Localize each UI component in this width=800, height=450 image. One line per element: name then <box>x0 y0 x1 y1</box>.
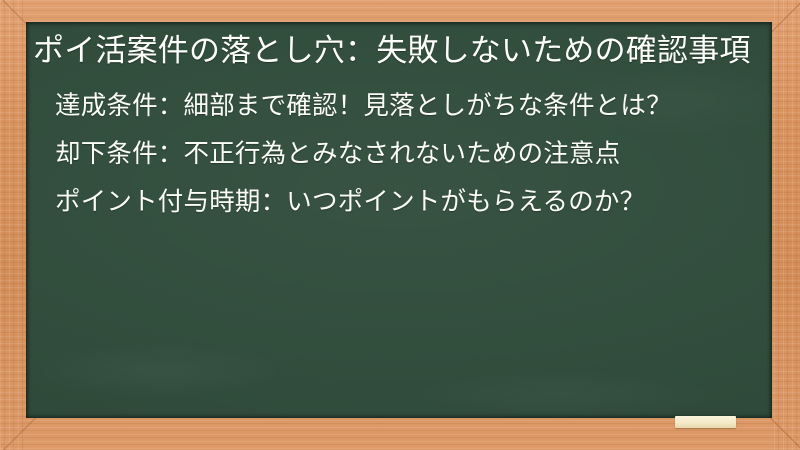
slide-point-list: 達成条件：細部まで確認！見落としがちな条件とは？ 却下条件：不正行為とみなされな… <box>26 87 772 222</box>
chalkboard-surface: ポイ活案件の落とし穴：失敗しないための確認事項 達成条件：細部まで確認！見落とし… <box>26 22 772 418</box>
slide-point-2: 却下条件：不正行為とみなされないための注意点 <box>55 135 750 174</box>
chalkboard-frame: ポイ活案件の落とし穴：失敗しないための確認事項 達成条件：細部まで確認！見落とし… <box>0 0 800 450</box>
wood-grain-left-stile <box>0 0 26 450</box>
wood-grain-right-stile <box>774 0 800 450</box>
chalk-stick <box>675 416 736 428</box>
board-text-block: ポイ活案件の落とし穴：失敗しないための確認事項 達成条件：細部まで確認！見落とし… <box>26 22 772 222</box>
slide-point-1: 達成条件：細部まで確認！見落としがちな条件とは？ <box>55 87 750 126</box>
slide-title: ポイ活案件の落とし穴：失敗しないための確認事項 <box>26 22 772 73</box>
slide-point-3: ポイント付与時期：いつポイントがもらえるのか？ <box>55 183 750 222</box>
